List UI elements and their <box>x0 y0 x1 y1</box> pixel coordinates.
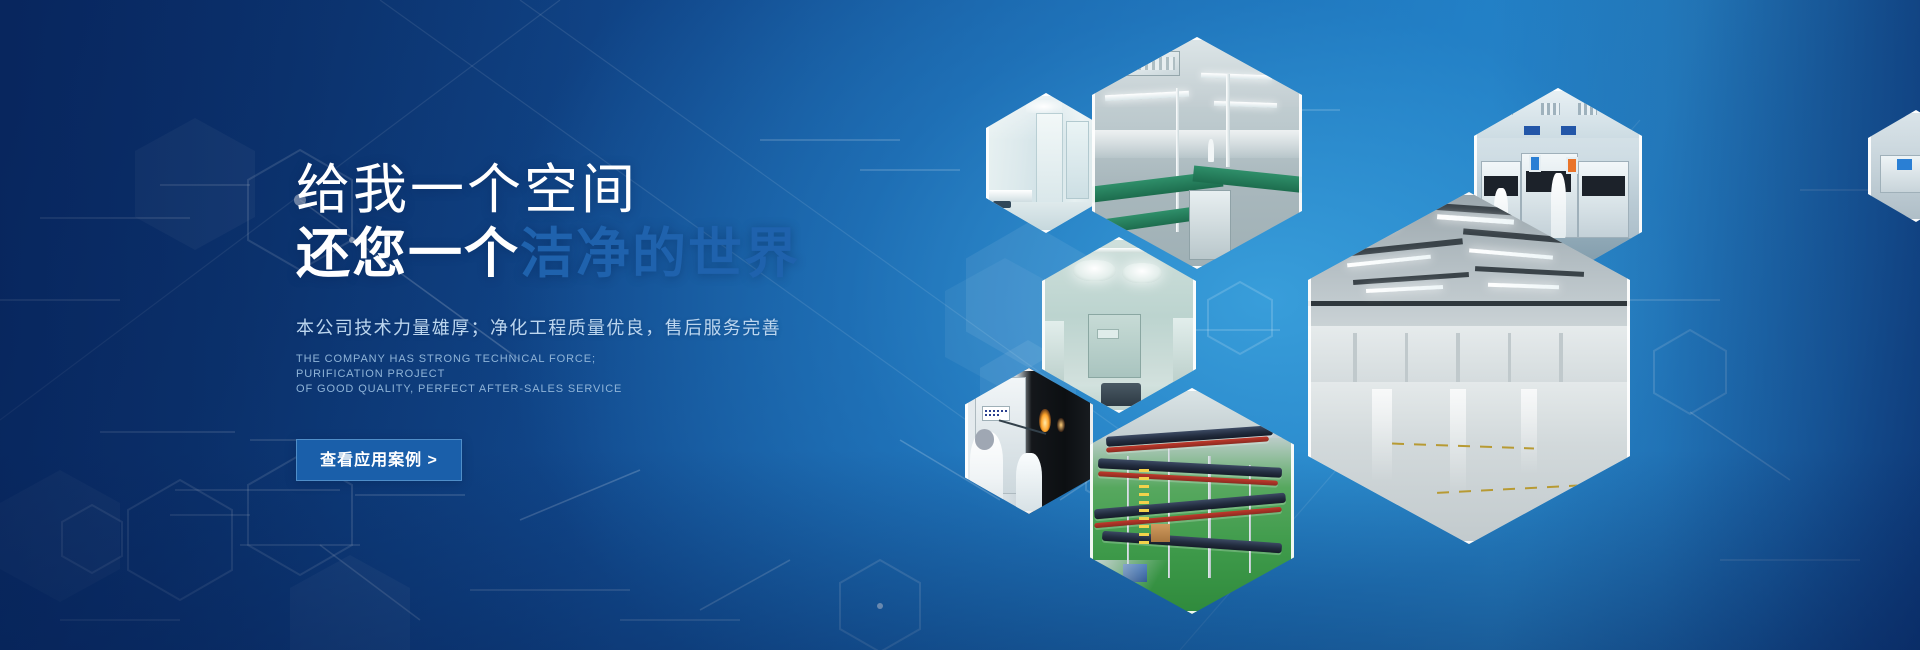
headline-line-2-white: 还您一个 <box>296 224 520 284</box>
collage-tile-conveyor-plant <box>1090 388 1294 614</box>
hexagon-photo-collage <box>0 0 1920 650</box>
subtitle-chinese: 本公司技术力量雄厚；净化工程质量优良，售后服务完善 <box>296 314 936 340</box>
headline-line-2-accent: 洁净的世界 <box>520 224 800 284</box>
subtitle-english: THE COMPANY HAS STRONG TECHNICAL FORCE; … <box>296 352 666 397</box>
subtitle-english-line-1: THE COMPANY HAS STRONG TECHNICAL FORCE; … <box>296 352 666 382</box>
subtitle-english-line-2: OF GOOD QUALITY, PERFECT AFTER-SALES SER… <box>296 382 666 397</box>
headline-line-2: 还您一个洁净的世界 <box>296 222 936 286</box>
hero-banner: 给我一个空间 还您一个洁净的世界 本公司技术力量雄厚；净化工程质量优良，售后服务… <box>0 0 1920 650</box>
collage-tile-cleanroom-corridor <box>986 93 1106 233</box>
collage-tile-assembly-line <box>1092 37 1302 269</box>
headline-line-1: 给我一个空间 <box>296 158 936 222</box>
hero-copy: 给我一个空间 还您一个洁净的世界 本公司技术力量雄厚；净化工程质量优良，售后服务… <box>296 158 936 481</box>
view-case-studies-button[interactable]: 查看应用案例 > <box>296 439 462 481</box>
collage-tile-machine-room-small <box>1868 110 1920 222</box>
